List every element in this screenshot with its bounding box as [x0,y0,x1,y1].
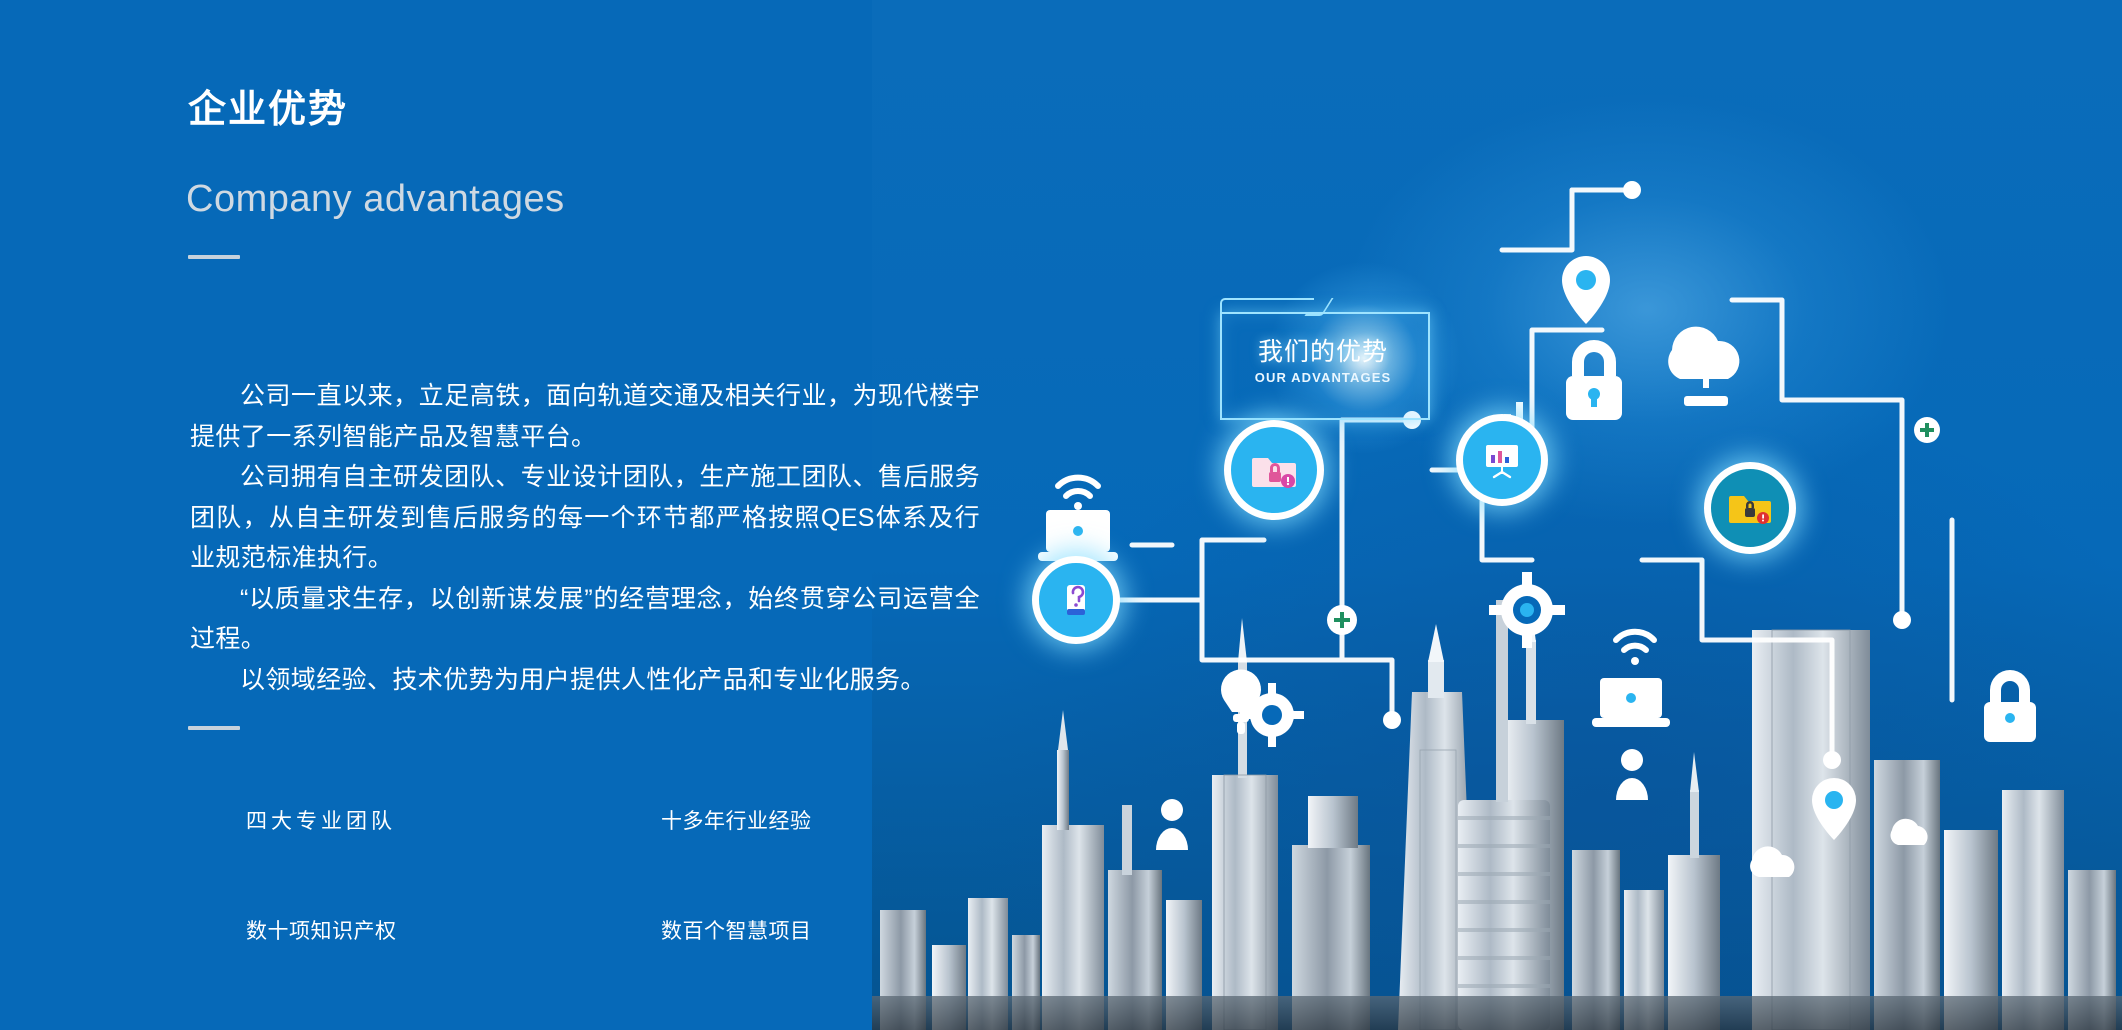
paragraph-2: 公司拥有自主研发团队、专业设计团队，生产施工团队、售后服务团队，从自主研发到售后… [190,457,980,579]
smartphone-icon [1057,581,1095,619]
stat-item-teams: 四大专业团队 [246,805,661,835]
divider-top [188,255,240,259]
network-glyph-icons [1038,256,2036,877]
paragraph-1: 公司一直以来，立足高铁，面向轨道交通及相关行业，为现代楼宇提供了一系列智能产品及… [190,376,980,457]
folder-lock-alert-icon [1728,488,1772,528]
folder-lock-badge [1224,420,1324,520]
company-advantages-section: 我们的优势 OUR ADVANTAGES [0,0,2122,1030]
card-title-en: OUR ADVANTAGES [1232,370,1414,385]
our-advantages-card: 我们的优势 OUR ADVANTAGES [1220,298,1428,418]
smartphone-badge [1032,556,1120,644]
stat-item-experience: 十多年行业经验 [661,805,886,835]
page-title-en: Company advantages [186,178,565,221]
stat-item-projects: 数百个智慧项目 [661,915,886,945]
chart-presentation-badge [1456,414,1548,506]
folder-lock-alert-badge [1704,462,1796,554]
advantages-paragraphs: 公司一直以来，立足高铁，面向轨道交通及相关行业，为现代楼宇提供了一系列智能产品及… [190,376,980,700]
stat-item-patents: 数十项知识产权 [246,915,661,945]
paragraph-4: 以领域经验、技术优势为用户提供人性化产品和专业化服务。 [190,660,980,701]
chart-presentation-icon [1481,439,1523,481]
folder-lock-icon [1250,448,1298,492]
page-title-cn: 企业优势 [188,78,348,133]
paragraph-3: “以质量求生存，以创新谋发展”的经营理念，始终贯穿公司运营全过程。 [190,579,980,660]
iot-connector-network [872,0,2122,1030]
divider-middle [188,726,240,730]
smart-city-illustration: 我们的优势 OUR ADVANTAGES [872,0,2122,1030]
card-title-cn: 我们的优势 [1232,332,1414,368]
stats-grid: 四大专业团队 十多年行业经验 数十项知识产权 数百个智慧项目 [246,805,886,945]
